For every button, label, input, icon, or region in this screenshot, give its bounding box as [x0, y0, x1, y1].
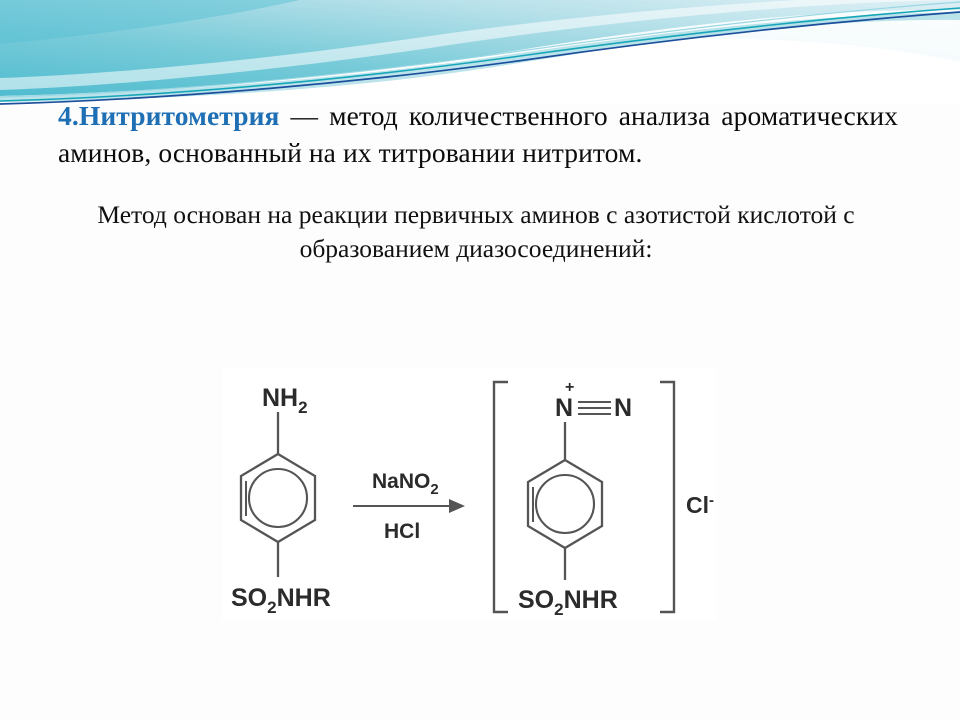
benzene-ring-reactant	[241, 454, 315, 542]
slide-body: 4.Нитритометрия — метод количественного …	[0, 98, 960, 267]
presentation-slide: 4.Нитритометрия — метод количественного …	[0, 0, 960, 720]
benzene-ring-product	[528, 460, 602, 548]
triple-bond-nn	[578, 402, 611, 414]
bracket-left	[494, 382, 508, 612]
decorative-header-band	[0, 0, 960, 105]
label-n-left: N	[555, 394, 573, 422]
label-reagent-below: HCl	[384, 520, 420, 543]
label-nh2: NH2	[262, 384, 308, 417]
label-chloride-counterion: Cl-	[686, 492, 714, 518]
label-reagent-above: NaNO2	[372, 470, 439, 498]
reaction-scheme-figure: NH2 SO2NHR NaNO2	[222, 368, 716, 621]
reaction-arrow-head	[449, 499, 465, 513]
bracket-right	[660, 382, 674, 612]
paragraph-definition: 4.Нитритометрия — метод количественного …	[0, 98, 960, 172]
label-n-right: N	[614, 394, 632, 422]
reaction-arrow-group: NaNO2 HCl	[353, 470, 465, 543]
label-so2nhr-reactant: SO2NHR	[231, 584, 331, 617]
aromatic-circle-product	[536, 475, 594, 533]
label-so2nhr-product: SO2NHR	[518, 586, 618, 619]
aromatic-circle-reactant	[249, 469, 307, 527]
reactant-molecule: NH2 SO2NHR	[231, 384, 331, 617]
paragraph-method-basis: Метод основан на реакции первичных амино…	[0, 198, 960, 267]
product-molecule: + N N SO2NHR	[494, 379, 714, 619]
term-nitritometry: 4.Нитритометрия	[58, 100, 280, 131]
